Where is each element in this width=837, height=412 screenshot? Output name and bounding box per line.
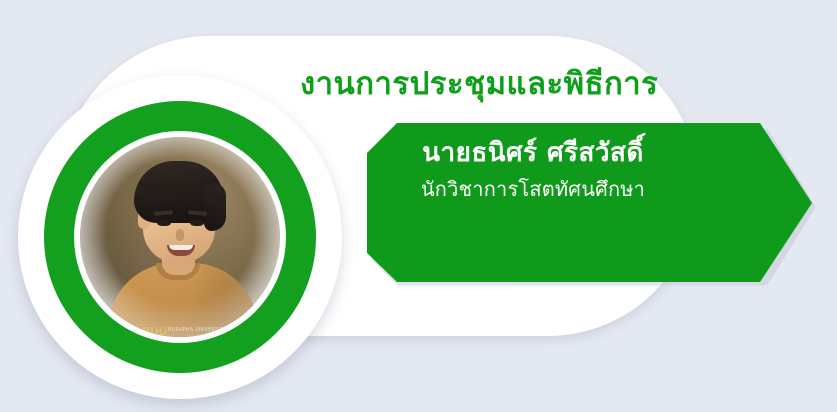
page-title: งานการประชุมและพิธีการ <box>300 58 720 108</box>
portrait-eye-left <box>157 220 171 226</box>
portrait-eye-right <box>190 220 204 226</box>
portrait-teeth <box>169 245 193 250</box>
shirt-logo-subtext: BURAPHA UNIVERSITY <box>168 327 227 333</box>
avatar-photo: BUU BURAPHA UNIVERSITY <box>80 137 280 337</box>
portrait-hair-side <box>204 183 226 231</box>
slide-canvas: นายธนิศร์ ศรีสวัสดิ์ นักวิชาการโสตทัศนศึ… <box>0 0 837 412</box>
person-name: นายธนิศร์ ศรีสวัสดิ์ <box>388 140 678 166</box>
avatar: BUU BURAPHA UNIVERSITY <box>18 75 342 399</box>
person-role: นักวิชาการโสตทัศนศึกษา <box>388 179 678 199</box>
portrait-nose <box>176 229 184 241</box>
shirt-logo: BUU BURAPHA UNIVERSITY <box>142 325 204 337</box>
banner-text-group: นายธนิศร์ ศรีสวัสดิ์ นักวิชาการโสตทัศนศึ… <box>388 140 678 199</box>
shirt-logo-text: BUU <box>142 325 167 337</box>
